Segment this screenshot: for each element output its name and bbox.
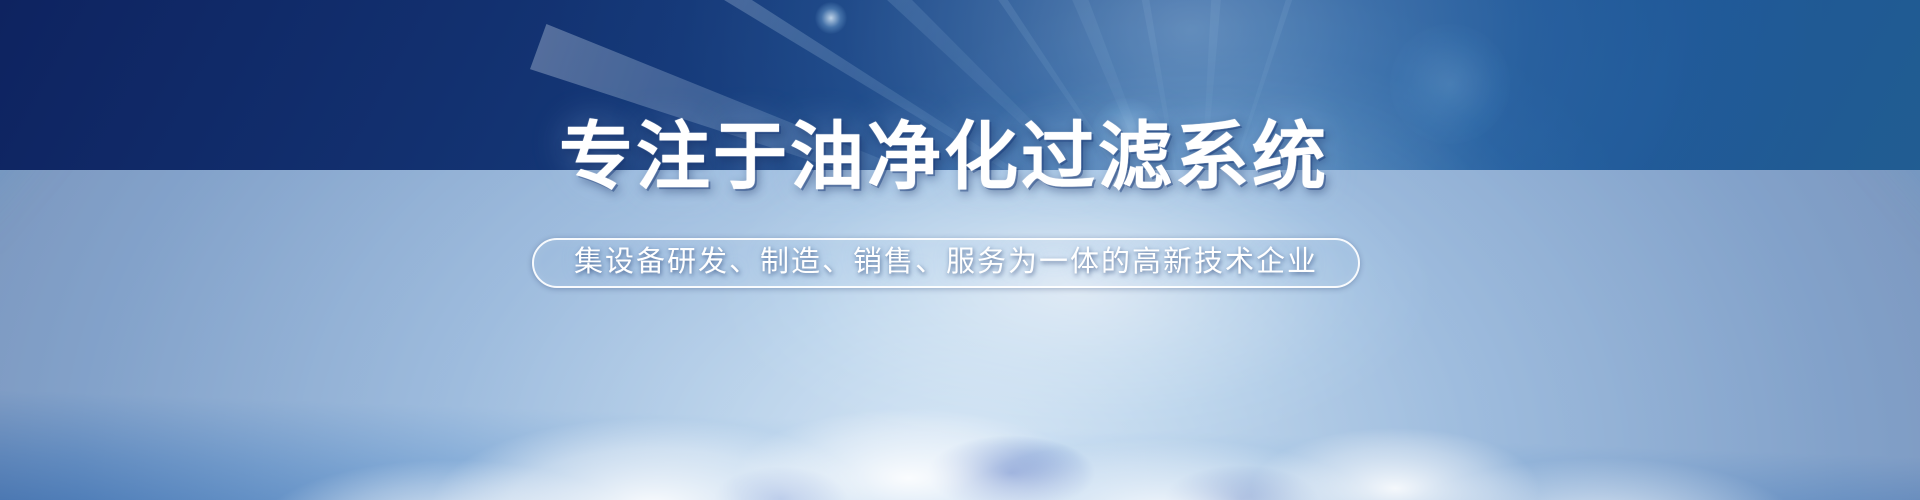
- banner-subtitle-pill: 集设备研发、制造、销售、服务为一体的高新技术企业: [532, 238, 1360, 288]
- banner-content: 专注于油净化过滤系统 集设备研发、制造、销售、服务为一体的高新技术企业: [0, 0, 1920, 500]
- hero-banner: 专注于油净化过滤系统 集设备研发、制造、销售、服务为一体的高新技术企业: [0, 0, 1920, 500]
- banner-subtitle: 集设备研发、制造、销售、服务为一体的高新技术企业: [574, 248, 1318, 277]
- banner-headline: 专注于油净化过滤系统: [559, 118, 1329, 196]
